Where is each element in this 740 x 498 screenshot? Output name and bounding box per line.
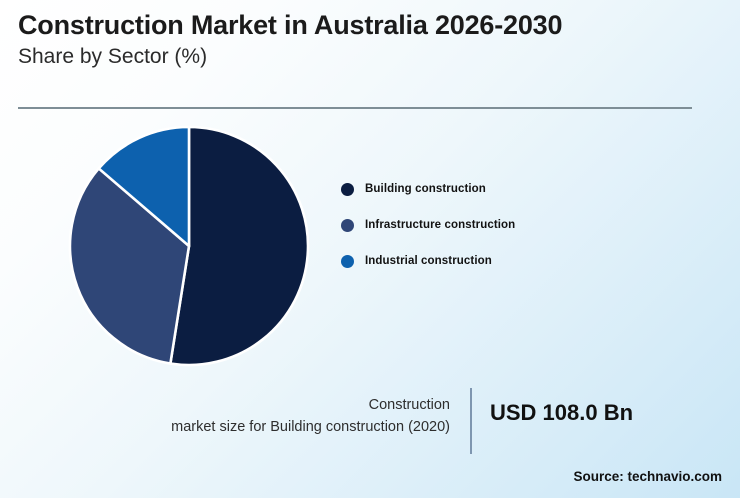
source-attribution: Source: technavio.com — [573, 469, 722, 484]
header-divider — [18, 107, 692, 109]
legend-dot-icon — [341, 255, 354, 268]
statistic-divider — [470, 388, 472, 454]
legend-item-label: Infrastructure construction — [365, 219, 515, 231]
statistic-caption: Construction market size for Building co… — [120, 394, 450, 439]
legend-item-building-construction[interactable]: Building construction — [341, 171, 641, 207]
page-title: Construction Market in Australia 2026-20… — [18, 10, 578, 41]
statistic-caption-line-2: market size for Building construction (2… — [120, 416, 450, 438]
legend-item-label: Industrial construction — [365, 255, 492, 267]
statistic-value: USD 108.0 Bn — [490, 400, 633, 426]
infographic-canvas: Construction Market in Australia 2026-20… — [0, 0, 740, 498]
legend-item-infrastructure-construction[interactable]: Infrastructure construction — [341, 207, 641, 243]
legend-item-label: Building construction — [365, 183, 486, 195]
pie-chart-svg — [70, 127, 308, 365]
header: Construction Market in Australia 2026-20… — [18, 10, 708, 69]
chart-legend: Building construction Infrastructure con… — [341, 171, 641, 279]
legend-dot-icon — [341, 183, 354, 196]
page-subtitle: Share by Sector (%) — [18, 44, 708, 69]
pie-chart — [70, 127, 308, 365]
pie-slice — [170, 127, 308, 365]
statistic-caption-line-1: Construction — [120, 394, 450, 416]
legend-dot-icon — [341, 219, 354, 232]
key-statistic: Construction market size for Building co… — [90, 386, 690, 456]
legend-item-industrial-construction[interactable]: Industrial construction — [341, 243, 641, 279]
